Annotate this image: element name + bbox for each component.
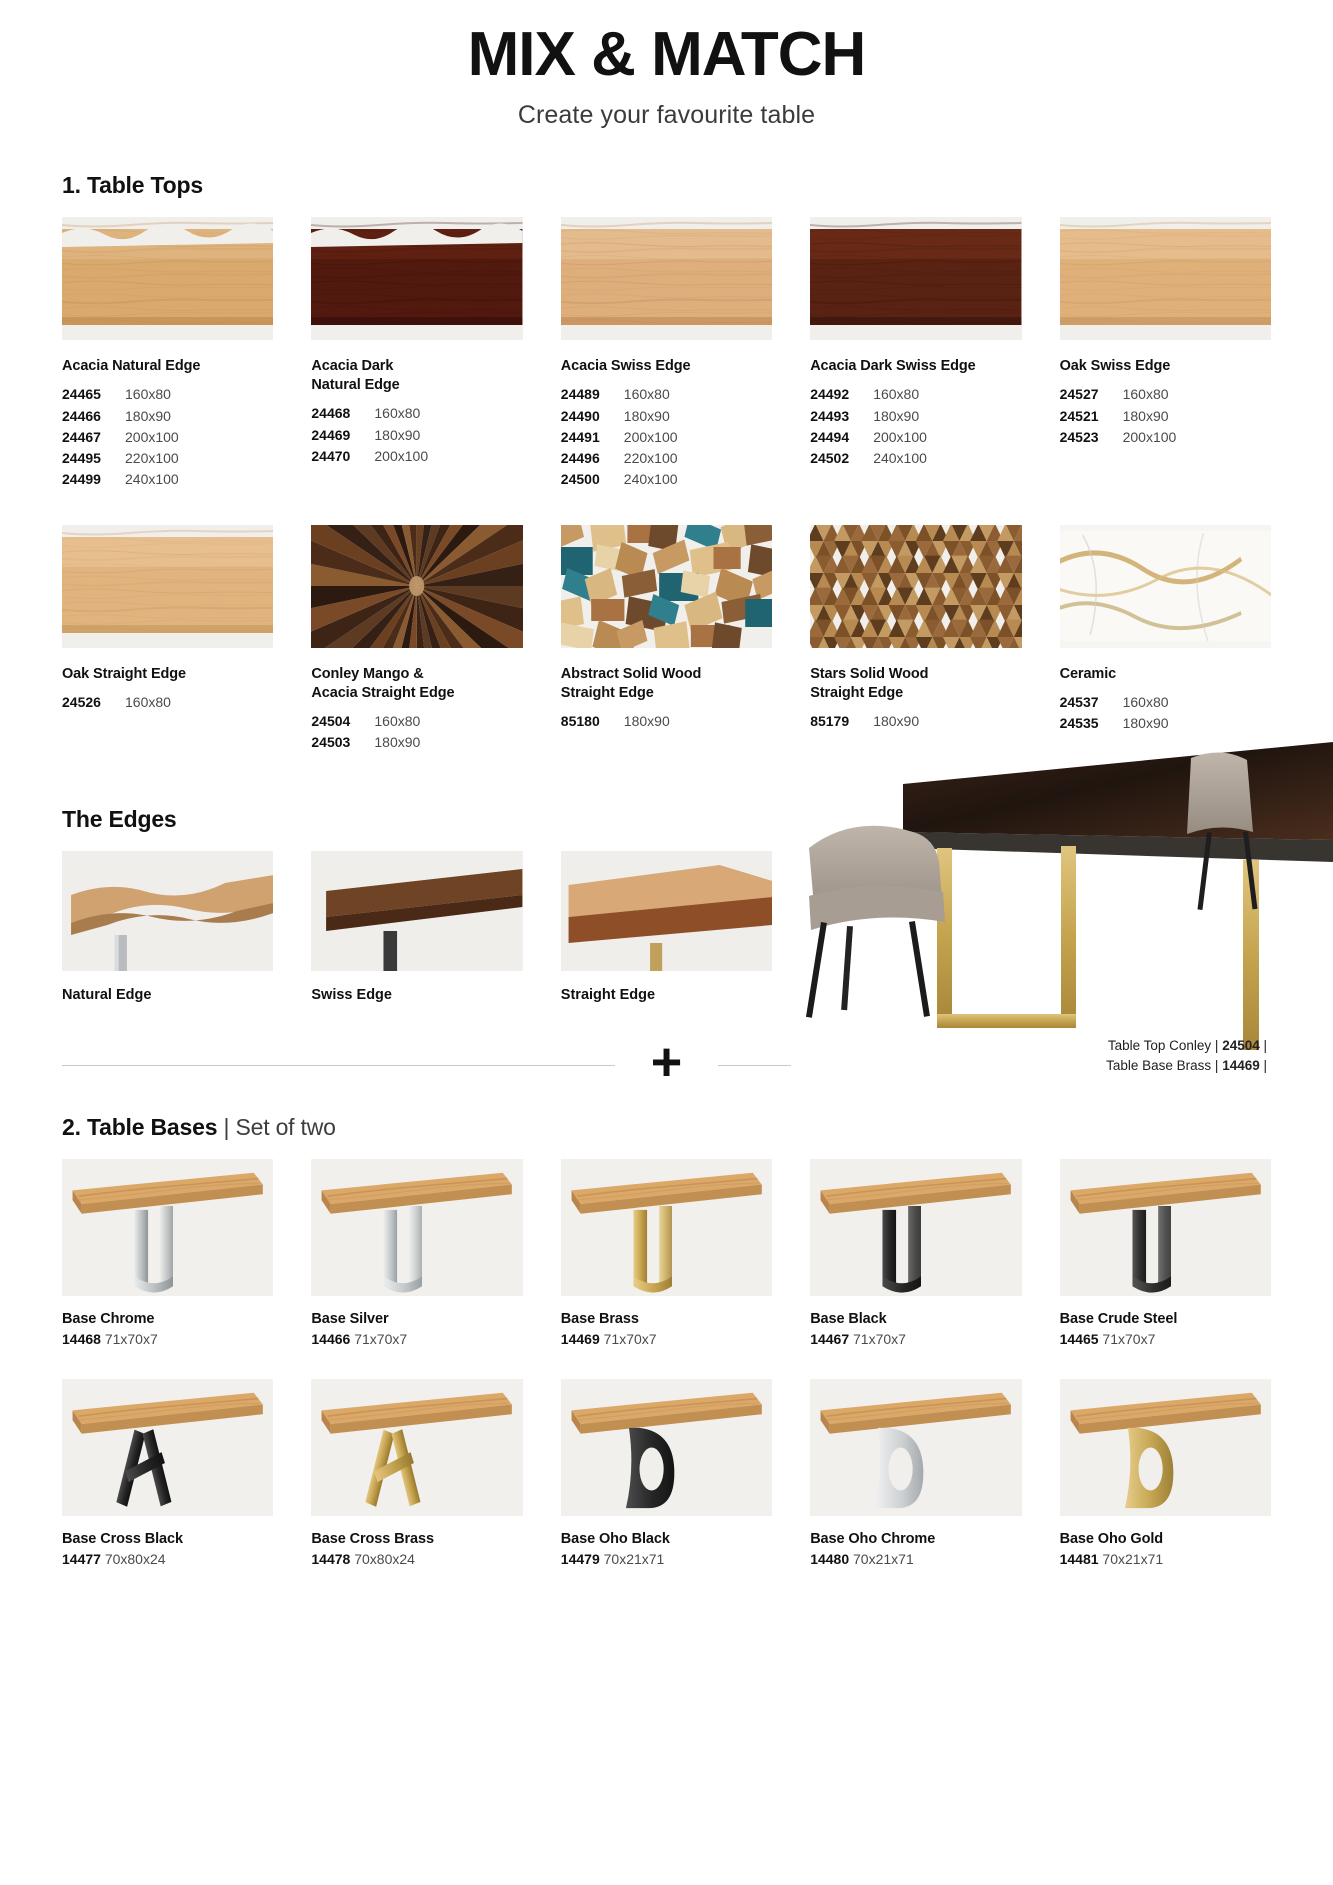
table-base-thumbnail xyxy=(1060,1379,1271,1516)
sku-dimensions: 160x80 xyxy=(1123,384,1169,404)
sku-code: 24465 xyxy=(62,384,125,404)
edge-label: Swiss Edge xyxy=(311,987,522,1003)
table-top-card[interactable]: Oak Straight Edge24526160x80 xyxy=(62,525,273,754)
sku-code: 14466 xyxy=(311,1331,350,1347)
table-bases-grid-row-2: Base Cross Black14477 70x80x24 Base Cros… xyxy=(62,1379,1271,1567)
table-top-title: Acacia DarkNatural Edge xyxy=(311,357,522,395)
table-tops-grid-row-1: Acacia Natural Edge24465160x8024466180x9… xyxy=(62,217,1271,491)
table-base-title: Base Chrome xyxy=(62,1311,273,1327)
table-top-thumbnail xyxy=(62,525,273,648)
sku-code: 14478 xyxy=(311,1551,350,1567)
lifestyle-caption-line-1: Table Top Conley | 24504 | xyxy=(1106,1036,1267,1056)
table-base-title: Base Black xyxy=(810,1311,1021,1327)
sku-list: 24465160x8024466180x9024467200x100244952… xyxy=(62,384,273,489)
table-base-thumbnail xyxy=(62,1159,273,1296)
sku-code: 24523 xyxy=(1060,427,1123,447)
table-top-thumbnail xyxy=(62,217,273,340)
sku-row: 24465160x80 xyxy=(62,384,273,404)
sku-code: 24495 xyxy=(62,448,125,468)
table-top-title: Ceramic xyxy=(1060,665,1271,684)
table-bases-heading-bold: 2. Table Bases xyxy=(62,1114,217,1140)
edge-card[interactable]: Swiss Edge xyxy=(311,851,522,1003)
sku-row: 24496220x100 xyxy=(561,448,772,468)
sku-code: 14468 xyxy=(62,1331,101,1347)
title-line: Ceramic xyxy=(1060,665,1271,684)
sku-row: 24499240x100 xyxy=(62,469,273,489)
sku-list: 24468160x8024469180x9024470200x100 xyxy=(311,403,522,466)
sku-row: 24490180x90 xyxy=(561,406,772,426)
sku-dimensions: 180x90 xyxy=(1123,713,1169,733)
sku-dimensions: 70x21x71 xyxy=(849,1551,914,1567)
table-top-card[interactable]: Oak Swiss Edge24527160x8024521180x902452… xyxy=(1060,217,1271,491)
sku-list: 24504160x8024503180x90 xyxy=(311,711,522,753)
plus-icon: + xyxy=(615,1044,719,1082)
sku-code: 24521 xyxy=(1060,406,1123,426)
table-base-card[interactable]: Base Cross Brass14478 70x80x24 xyxy=(311,1379,522,1567)
sku-dimensions: 71x70x7 xyxy=(350,1331,407,1347)
title-line: Oak Swiss Edge xyxy=(1060,357,1271,376)
table-base-card[interactable]: Base Cross Black14477 70x80x24 xyxy=(62,1379,273,1567)
section-heading-table-bases: 2. Table Bases | Set of two xyxy=(62,1114,1271,1141)
sku-code: 14481 xyxy=(1060,1551,1099,1567)
title-line: Oak Straight Edge xyxy=(62,665,273,684)
section-heading-table-tops: 1. Table Tops xyxy=(62,172,1271,199)
title-line: Conley Mango & xyxy=(311,665,522,684)
table-top-thumbnail xyxy=(561,525,772,648)
table-base-thumbnail xyxy=(1060,1159,1271,1296)
sku-dimensions: 220x100 xyxy=(125,448,179,468)
table-base-thumbnail xyxy=(810,1159,1021,1296)
sku-dimensions: 180x90 xyxy=(624,406,670,426)
sku-dimensions: 160x80 xyxy=(125,692,171,712)
title-line: Abstract Solid Wood xyxy=(561,665,772,684)
table-top-thumbnail xyxy=(810,217,1021,340)
sku-list: 24489160x8024490180x9024491200x100244962… xyxy=(561,384,772,489)
sku-list: 24527160x8024521180x9024523200x100 xyxy=(1060,384,1271,447)
sku-dimensions: 180x90 xyxy=(1123,406,1169,426)
page-subtitle: Create your favourite table xyxy=(62,101,1271,130)
table-top-thumbnail xyxy=(810,525,1021,648)
table-top-card[interactable]: Abstract Solid WoodStraight Edge85180180… xyxy=(561,525,772,754)
sku-code: 24499 xyxy=(62,469,125,489)
sku-code: 85180 xyxy=(561,711,624,731)
table-base-thumbnail xyxy=(62,1379,273,1516)
sku-dimensions: 180x90 xyxy=(873,406,919,426)
table-top-title: Abstract Solid WoodStraight Edge xyxy=(561,665,772,703)
title-line: Acacia Swiss Edge xyxy=(561,357,772,376)
table-bases-grid-row-1: Base Chrome14468 71x70x7 Base Silver1446… xyxy=(62,1159,1271,1347)
sku-dimensions: 160x80 xyxy=(374,403,420,423)
sku-row: 24500240x100 xyxy=(561,469,772,489)
sku-row: 24537160x80 xyxy=(1060,692,1271,712)
table-base-card[interactable]: Base Silver14466 71x70x7 xyxy=(311,1159,522,1347)
sku-code: 24502 xyxy=(810,448,873,468)
table-top-card[interactable]: Acacia Natural Edge24465160x8024466180x9… xyxy=(62,217,273,491)
edge-label: Natural Edge xyxy=(62,987,273,1003)
table-base-title: Base Oho Black xyxy=(561,1531,772,1547)
table-base-title: Base Cross Black xyxy=(62,1531,273,1547)
catalog-page: MIX & MATCH Create your favourite table … xyxy=(0,22,1333,1885)
table-base-title: Base Oho Chrome xyxy=(810,1531,1021,1547)
title-line: Straight Edge xyxy=(810,684,1021,703)
sku-dimensions: 200x100 xyxy=(624,427,678,447)
title-line: Acacia Dark xyxy=(311,357,522,376)
table-base-card[interactable]: Base Brass14469 71x70x7 xyxy=(561,1159,772,1347)
sku-row: 24493180x90 xyxy=(810,406,1021,426)
sku-code: 24526 xyxy=(62,692,125,712)
sku-code: 24535 xyxy=(1060,713,1123,733)
sku-dimensions: 240x100 xyxy=(125,469,179,489)
sku-code: 24500 xyxy=(561,469,624,489)
sku-row: 24470200x100 xyxy=(311,446,522,466)
sku-row: 24535180x90 xyxy=(1060,713,1271,733)
sku-code: 14480 xyxy=(810,1551,849,1567)
sku-dimensions: 180x90 xyxy=(125,406,171,426)
sku-row: 24521180x90 xyxy=(1060,406,1271,426)
table-top-card[interactable]: Conley Mango &Acacia Straight Edge245041… xyxy=(311,525,522,754)
table-base-thumbnail xyxy=(311,1379,522,1516)
table-top-card[interactable]: Stars Solid WoodStraight Edge85179180x90 xyxy=(810,525,1021,754)
table-top-title: Oak Swiss Edge xyxy=(1060,357,1271,376)
table-base-card[interactable]: Base Oho Black14479 70x21x71 xyxy=(561,1379,772,1567)
table-base-sku-row: 14479 70x21x71 xyxy=(561,1551,772,1567)
sku-dimensions: 160x80 xyxy=(125,384,171,404)
table-top-card[interactable]: Acacia Dark Swiss Edge24492160x802449318… xyxy=(810,217,1021,491)
table-top-thumbnail xyxy=(311,217,522,340)
sku-list: 24526160x80 xyxy=(62,692,273,712)
sku-row: 24495220x100 xyxy=(62,448,273,468)
sku-list: 24537160x8024535180x90 xyxy=(1060,692,1271,734)
table-base-sku-row: 14468 71x70x7 xyxy=(62,1331,273,1347)
sku-dimensions: 160x80 xyxy=(374,711,420,731)
sku-row: 85180180x90 xyxy=(561,711,772,731)
sku-list: 24492160x8024493180x9024494200x100245022… xyxy=(810,384,1021,468)
sku-code: 24492 xyxy=(810,384,873,404)
table-base-card[interactable]: Base Oho Gold14481 70x21x71 xyxy=(1060,1379,1271,1567)
sku-dimensions: 71x70x7 xyxy=(101,1331,158,1347)
table-base-title: Base Silver xyxy=(311,1311,522,1327)
table-top-card[interactable]: Acacia DarkNatural Edge24468160x80244691… xyxy=(311,217,522,491)
title-line: Natural Edge xyxy=(311,376,522,395)
sku-dimensions: 70x80x24 xyxy=(350,1551,415,1567)
sku-row: 24527160x80 xyxy=(1060,384,1271,404)
sku-row: 24526160x80 xyxy=(62,692,273,712)
table-base-title: Base Brass xyxy=(561,1311,772,1327)
sku-code: 24466 xyxy=(62,406,125,426)
edge-thumbnail xyxy=(311,851,522,971)
table-base-card[interactable]: Base Chrome14468 71x70x7 xyxy=(62,1159,273,1347)
sku-code: 14479 xyxy=(561,1551,600,1567)
lifestyle-caption-line-2: Table Base Brass | 14469 | xyxy=(1106,1056,1267,1076)
sku-code: 24537 xyxy=(1060,692,1123,712)
table-base-title: Base Cross Brass xyxy=(311,1531,522,1547)
table-base-card[interactable]: Base Crude Steel14465 71x70x7 xyxy=(1060,1159,1271,1347)
table-tops-grid-row-2: Oak Straight Edge24526160x80Conley Mango… xyxy=(62,525,1271,754)
sku-row: 24503180x90 xyxy=(311,732,522,752)
sku-dimensions: 71x70x7 xyxy=(849,1331,906,1347)
table-top-title: Acacia Swiss Edge xyxy=(561,357,772,376)
table-bases-heading-light: | Set of two xyxy=(217,1114,335,1140)
sku-dimensions: 70x21x71 xyxy=(600,1551,665,1567)
table-base-thumbnail xyxy=(561,1379,772,1516)
sku-code: 24496 xyxy=(561,448,624,468)
table-base-thumbnail xyxy=(311,1159,522,1296)
title-line: Acacia Natural Edge xyxy=(62,357,273,376)
table-top-card[interactable]: Ceramic24537160x8024535180x90 xyxy=(1060,525,1271,754)
sku-row: 24468160x80 xyxy=(311,403,522,423)
sku-dimensions: 71x70x7 xyxy=(1099,1331,1156,1347)
title-line: Acacia Dark Swiss Edge xyxy=(810,357,1021,376)
table-top-title: Acacia Natural Edge xyxy=(62,357,273,376)
sku-code: 24493 xyxy=(810,406,873,426)
edges-section: Natural Edge Swiss Edge Straight Edge xyxy=(62,851,1271,1003)
table-base-sku-row: 14465 71x70x7 xyxy=(1060,1331,1271,1347)
table-top-title: Stars Solid WoodStraight Edge xyxy=(810,665,1021,703)
sku-row: 24466180x90 xyxy=(62,406,273,426)
table-top-title: Oak Straight Edge xyxy=(62,665,273,684)
sku-dimensions: 180x90 xyxy=(873,711,919,731)
sku-row: 85179180x90 xyxy=(810,711,1021,731)
sku-row: 24494200x100 xyxy=(810,427,1021,447)
sku-list: 85179180x90 xyxy=(810,711,1021,731)
table-base-sku-row: 14477 70x80x24 xyxy=(62,1551,273,1567)
sku-dimensions: 200x100 xyxy=(374,446,428,466)
table-base-thumbnail xyxy=(561,1159,772,1296)
sku-row: 24492160x80 xyxy=(810,384,1021,404)
table-top-thumbnail xyxy=(1060,217,1271,340)
sku-row: 24523200x100 xyxy=(1060,427,1271,447)
sku-code: 24503 xyxy=(311,732,374,752)
sku-code: 14467 xyxy=(810,1331,849,1347)
sku-row: 24504160x80 xyxy=(311,711,522,731)
table-base-sku-row: 14481 70x21x71 xyxy=(1060,1551,1271,1567)
sku-code: 85179 xyxy=(810,711,873,731)
table-base-sku-row: 14467 71x70x7 xyxy=(810,1331,1021,1347)
sku-dimensions: 71x70x7 xyxy=(600,1331,657,1347)
sku-dimensions: 180x90 xyxy=(374,425,420,445)
sku-row: 24502240x100 xyxy=(810,448,1021,468)
sku-code: 24491 xyxy=(561,427,624,447)
table-base-sku-row: 14478 70x80x24 xyxy=(311,1551,522,1567)
table-base-card[interactable]: Base Oho Chrome14480 70x21x71 xyxy=(810,1379,1021,1567)
table-base-title: Base Crude Steel xyxy=(1060,1311,1271,1327)
sku-dimensions: 220x100 xyxy=(624,448,678,468)
sku-code: 24489 xyxy=(561,384,624,404)
table-base-thumbnail xyxy=(810,1379,1021,1516)
lifestyle-photo: Table Top Conley | 24504 | Table Base Br… xyxy=(791,736,1333,1091)
edge-card[interactable]: Natural Edge xyxy=(62,851,273,1003)
sku-dimensions: 160x80 xyxy=(1123,692,1169,712)
sku-dimensions: 160x80 xyxy=(873,384,919,404)
table-top-title: Acacia Dark Swiss Edge xyxy=(810,357,1021,376)
sku-dimensions: 240x100 xyxy=(624,469,678,489)
edge-label: Straight Edge xyxy=(561,987,772,1003)
sku-row: 24489160x80 xyxy=(561,384,772,404)
sku-code: 24468 xyxy=(311,403,374,423)
sku-dimensions: 240x100 xyxy=(873,448,927,468)
table-base-sku-row: 14480 70x21x71 xyxy=(810,1551,1021,1567)
sku-dimensions: 180x90 xyxy=(374,732,420,752)
edge-thumbnail xyxy=(62,851,273,971)
title-line: Straight Edge xyxy=(561,684,772,703)
sku-code: 24467 xyxy=(62,427,125,447)
page-title: MIX & MATCH xyxy=(62,22,1271,87)
divider-line-left xyxy=(62,1065,615,1066)
edge-card[interactable]: Straight Edge xyxy=(561,851,772,1003)
title-line: Stars Solid Wood xyxy=(810,665,1021,684)
edge-thumbnail xyxy=(561,851,772,971)
table-top-thumbnail xyxy=(311,525,522,648)
sku-code: 14477 xyxy=(62,1551,101,1567)
sku-dimensions: 200x100 xyxy=(125,427,179,447)
sku-code: 14469 xyxy=(561,1331,600,1347)
sku-dimensions: 160x80 xyxy=(624,384,670,404)
title-line: Acacia Straight Edge xyxy=(311,684,522,703)
sku-code: 14465 xyxy=(1060,1331,1099,1347)
sku-code: 24504 xyxy=(311,711,374,731)
sku-dimensions: 200x100 xyxy=(873,427,927,447)
table-base-sku-row: 14466 71x70x7 xyxy=(311,1331,522,1347)
sku-row: 24491200x100 xyxy=(561,427,772,447)
sku-dimensions: 180x90 xyxy=(624,711,670,731)
lifestyle-caption: Table Top Conley | 24504 | Table Base Br… xyxy=(1106,1036,1267,1077)
table-top-thumbnail xyxy=(1060,525,1271,648)
sku-code: 24469 xyxy=(311,425,374,445)
sku-code: 24494 xyxy=(810,427,873,447)
sku-list: 85180180x90 xyxy=(561,711,772,731)
table-top-thumbnail xyxy=(561,217,772,340)
table-base-card[interactable]: Base Black14467 71x70x7 xyxy=(810,1159,1021,1347)
sku-code: 24527 xyxy=(1060,384,1123,404)
table-top-card[interactable]: Acacia Swiss Edge24489160x8024490180x902… xyxy=(561,217,772,491)
table-top-title: Conley Mango &Acacia Straight Edge xyxy=(311,665,522,703)
sku-code: 24470 xyxy=(311,446,374,466)
sku-row: 24467200x100 xyxy=(62,427,273,447)
sku-dimensions: 70x21x71 xyxy=(1099,1551,1164,1567)
sku-dimensions: 200x100 xyxy=(1123,427,1177,447)
sku-row: 24469180x90 xyxy=(311,425,522,445)
sku-code: 24490 xyxy=(561,406,624,426)
table-base-sku-row: 14469 71x70x7 xyxy=(561,1331,772,1347)
table-base-title: Base Oho Gold xyxy=(1060,1531,1271,1547)
sku-dimensions: 70x80x24 xyxy=(101,1551,166,1567)
